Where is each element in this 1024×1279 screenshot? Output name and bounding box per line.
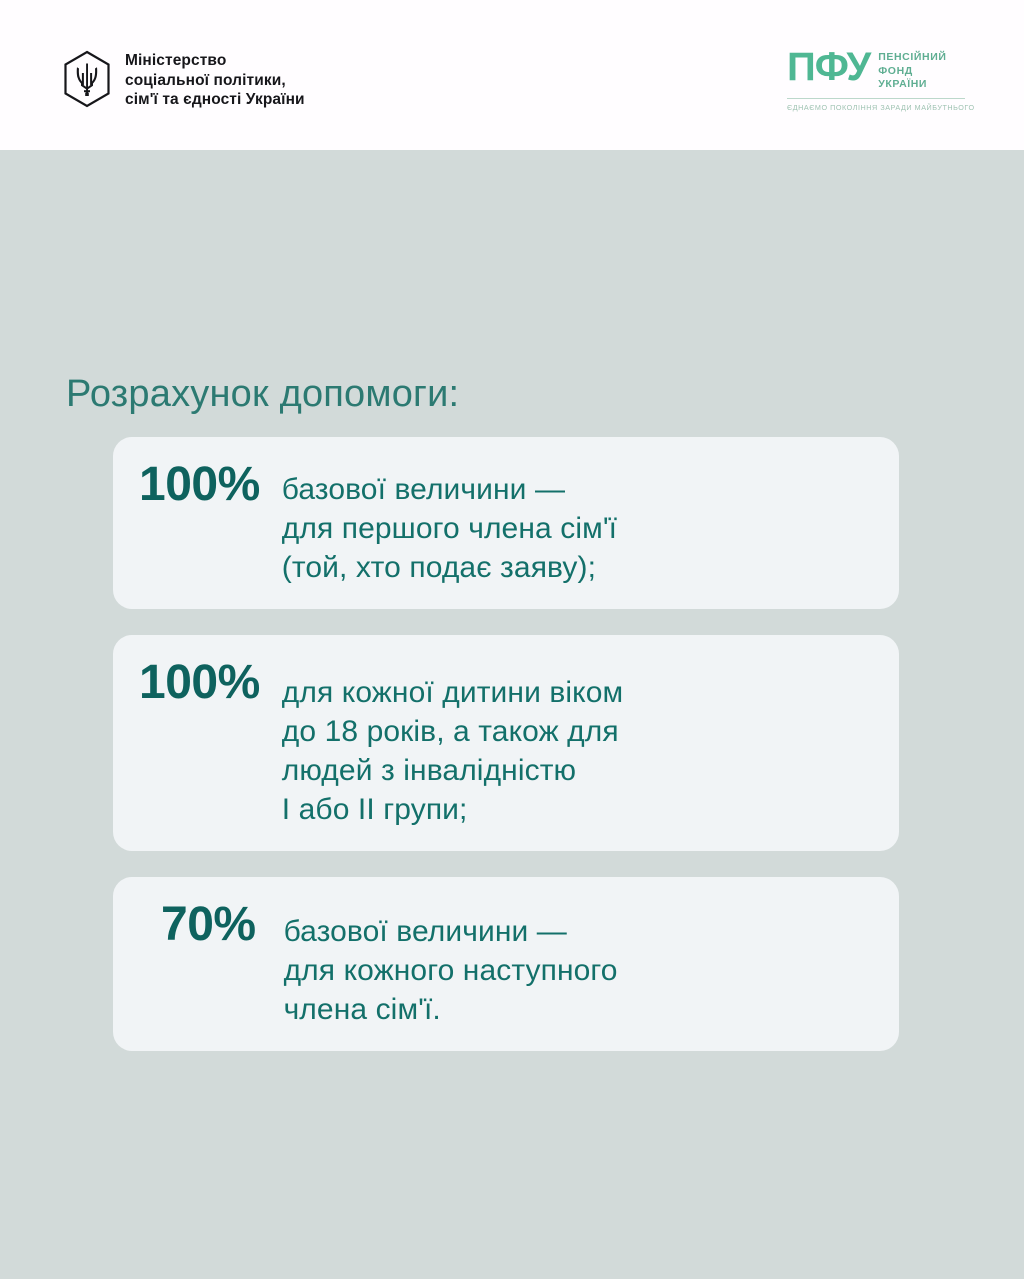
benefit-percent: 100% <box>139 459 260 511</box>
benefit-card: 70% базової величини — для кожного насту… <box>113 877 899 1051</box>
benefit-description: для кожної дитини віком до 18 років, а т… <box>282 657 873 829</box>
ukraine-trident-hexagon-icon <box>62 50 112 108</box>
pfu-full-name: ПЕНСІЙНИЙ ФОНД УКРАЇНИ <box>878 48 946 92</box>
benefit-card-list: 100% базової величини — для першого член… <box>113 437 899 1051</box>
ministry-name: Міністерство соціальної політики, сім'ї … <box>125 50 305 110</box>
benefit-percent: 70% <box>139 899 262 951</box>
benefit-percent: 100% <box>139 657 260 709</box>
benefit-description: базової величини — для кожного наступног… <box>284 899 873 1029</box>
benefit-card: 100% базової величини — для першого член… <box>113 437 899 609</box>
benefit-description: базової величини — для першого члена сім… <box>282 459 873 587</box>
main-content: Розрахунок допомоги: 100% базової величи… <box>0 150 1024 1279</box>
pfu-logo: ПФУ ПЕНСІЙНИЙ ФОНД УКРАЇНИ ЄДНАЄМО ПОКОЛ… <box>787 48 965 113</box>
pfu-monogram: ПФУ <box>787 46 870 88</box>
ministry-logo: Міністерство соціальної політики, сім'ї … <box>62 50 305 110</box>
benefit-card: 100% для кожної дитини віком до 18 років… <box>113 635 899 851</box>
page-header: Міністерство соціальної політики, сім'ї … <box>0 0 1024 150</box>
section-title: Розрахунок допомоги: <box>66 372 459 416</box>
pfu-tagline: ЄДНАЄМО ПОКОЛІННЯ ЗАРАДИ МАЙБУТНЬОГО <box>787 102 965 113</box>
pfu-divider <box>787 98 965 99</box>
